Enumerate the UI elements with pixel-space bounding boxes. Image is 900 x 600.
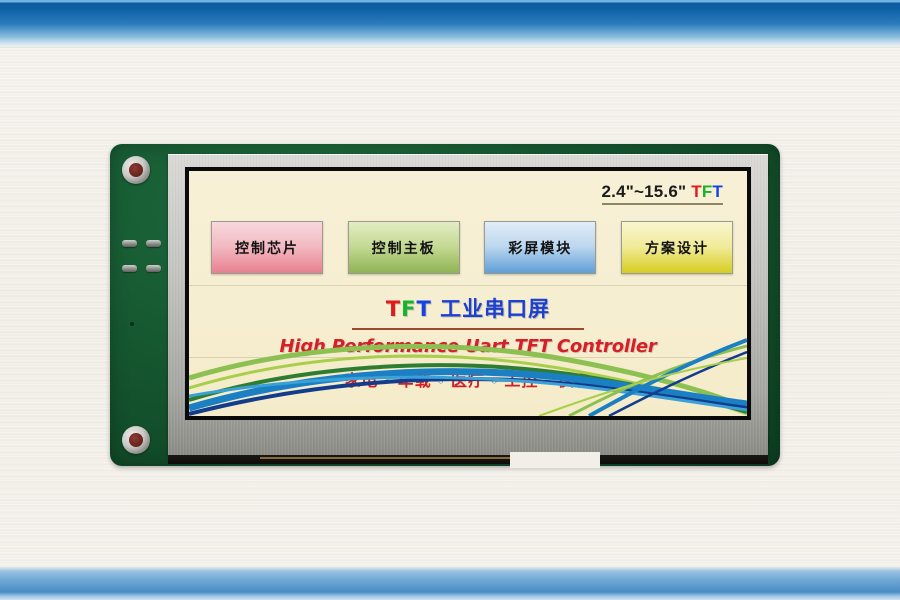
mounting-screw-top-left	[122, 156, 150, 184]
headline-chinese-text: 工业串口屏	[440, 297, 550, 321]
pad-row-lower	[122, 265, 164, 272]
pcb-via-icon	[130, 322, 134, 326]
size-range-text: 2.4"~15.6"	[602, 182, 687, 201]
headline-tft-letter-t1: T	[386, 297, 401, 321]
decorative-swoosh-graphic	[189, 330, 747, 416]
headline-chinese: TFT 工业串口屏	[189, 293, 747, 323]
bottom-banner	[0, 567, 900, 600]
metal-bezel: 2.4"~15.6" TFT 控制芯片 控制主板 彩屏模块 方案设计 TFT 工…	[168, 154, 768, 456]
headline-tft-letter-f: F	[401, 297, 416, 321]
lcd-screen: 2.4"~15.6" TFT 控制芯片 控制主板 彩屏模块 方案设计 TFT 工…	[189, 171, 747, 416]
tft-letter-t1: T	[691, 182, 702, 201]
category-button-row: 控制芯片 控制主板 彩屏模块 方案设计	[211, 221, 733, 274]
pad-row-upper	[122, 240, 164, 247]
bezel-inner-frame: 2.4"~15.6" TFT 控制芯片 控制主板 彩屏模块 方案设计 TFT 工…	[185, 167, 751, 420]
button-solution-design[interactable]: 方案设计	[621, 221, 733, 274]
pcb-board: 2.4"~15.6" TFT 控制芯片 控制主板 彩屏模块 方案设计 TFT 工…	[110, 144, 780, 466]
screen-size-range-header: 2.4"~15.6" TFT	[602, 182, 724, 205]
button-color-screen-module[interactable]: 彩屏模块	[484, 221, 596, 274]
screen-divider-upper	[189, 285, 747, 286]
solder-pad-icon	[146, 240, 161, 247]
headline-tft-letter-t2: T	[417, 297, 432, 321]
board-copper-trace	[260, 457, 520, 459]
page-root: 2.4"~15.6" TFT 控制芯片 控制主板 彩屏模块 方案设计 TFT 工…	[0, 0, 900, 600]
tft-letter-t2: T	[712, 182, 723, 201]
connector-pads	[122, 240, 164, 290]
tft-letter-f: F	[702, 182, 713, 201]
button-control-chip[interactable]: 控制芯片	[211, 221, 323, 274]
solder-pad-icon	[122, 265, 137, 272]
board-bottom-notch	[510, 452, 600, 468]
mounting-screw-bottom-left	[122, 426, 150, 454]
solder-pad-icon	[146, 265, 161, 272]
top-banner	[0, 0, 900, 48]
solder-pad-icon	[122, 240, 137, 247]
button-control-mainboard[interactable]: 控制主板	[348, 221, 460, 274]
